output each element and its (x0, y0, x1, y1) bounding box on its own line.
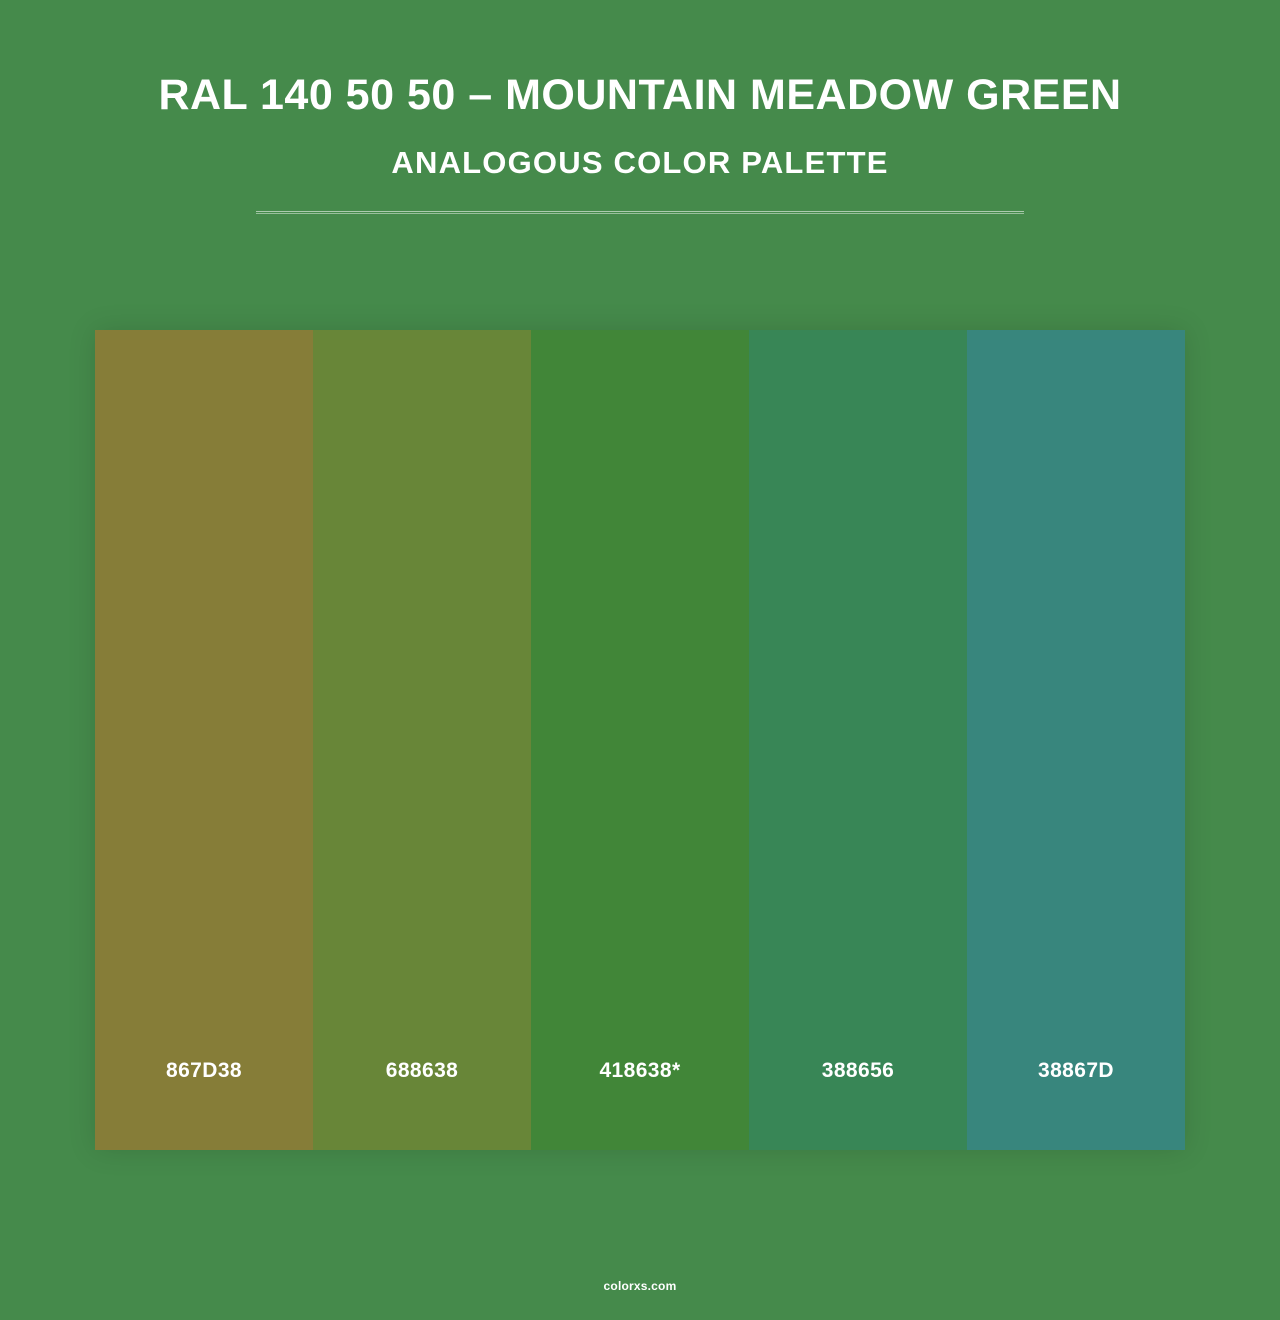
swatch-color-4 (749, 330, 967, 992)
swatch-label-3: 418638* (531, 992, 749, 1150)
page-title: RAL 140 50 50 – MOUNTAIN MEADOW GREEN (158, 72, 1121, 119)
swatch-color-1 (95, 330, 313, 992)
swatch-5[interactable]: 38867D (967, 330, 1185, 1150)
page-root: RAL 140 50 50 – MOUNTAIN MEADOW GREEN AN… (0, 0, 1280, 1320)
swatch-4[interactable]: 388656 (749, 330, 967, 1150)
swatch-3[interactable]: 418638* (531, 330, 749, 1150)
swatch-1[interactable]: 867D38 (95, 330, 313, 1150)
swatch-label-4: 388656 (749, 992, 967, 1150)
swatch-color-3 (531, 330, 749, 992)
swatch-label-5: 38867D (967, 992, 1185, 1150)
swatch-label-1: 867D38 (95, 992, 313, 1150)
site-credit: colorxs.com (0, 1279, 1280, 1293)
swatch-2[interactable]: 688638 (313, 330, 531, 1150)
swatch-label-2: 688638 (313, 992, 531, 1150)
swatch-color-2 (313, 330, 531, 992)
title-divider (256, 211, 1024, 214)
color-palette: 867D38 688638 418638* 388656 38867D (95, 330, 1185, 1150)
page-subtitle: ANALOGOUS COLOR PALETTE (391, 145, 888, 181)
swatch-color-5 (967, 330, 1185, 992)
